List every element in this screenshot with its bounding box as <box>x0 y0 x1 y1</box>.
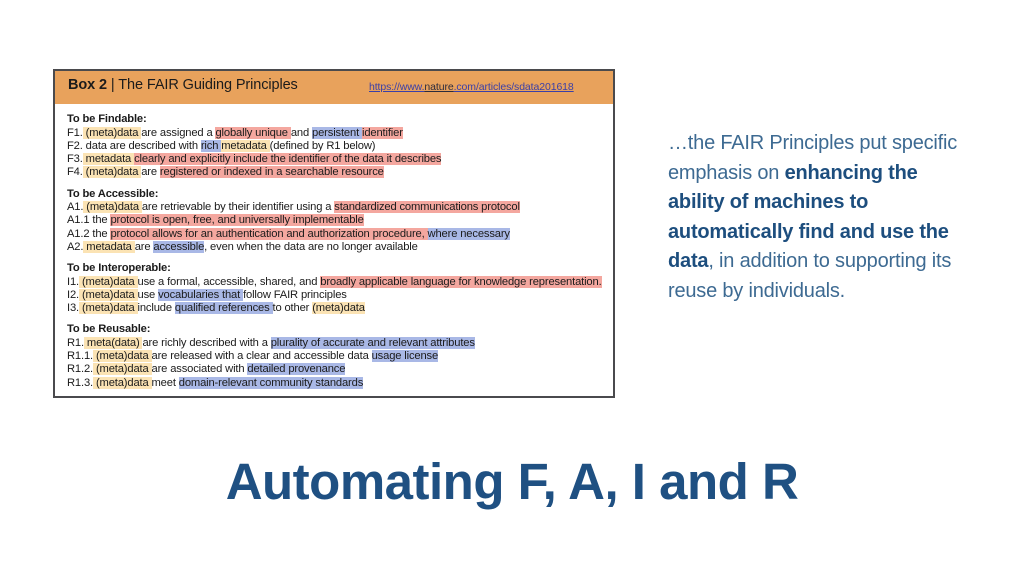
fair-principle: I2. (meta)data use vocabularies that fol… <box>67 289 613 302</box>
fair-text: the <box>89 228 110 240</box>
quote-text: , in addition to supporting its reuse by… <box>668 250 951 302</box>
fair-box-header: Box 2 | The FAIR Guiding Principles http… <box>55 71 613 104</box>
fair-principle-id: F2. <box>67 140 83 152</box>
fair-highlight-b: where necessary <box>428 228 510 240</box>
fair-highlight-b: qualified references <box>175 302 273 314</box>
fair-highlight-y: meta(data) <box>84 337 143 349</box>
fair-principle-id: R1.3. <box>67 377 93 389</box>
url-path: .com/articles/sdata201618 <box>454 81 574 93</box>
fair-principle: F1. (meta)data are assigned a globally u… <box>67 127 613 140</box>
fair-highlight-b: plurality of accurate and relevant attri… <box>271 337 475 349</box>
fair-highlight-y: (meta)data <box>312 302 365 314</box>
fair-principle: A1.1 the protocol is open, free, and uni… <box>67 214 613 227</box>
fair-principles-box: Box 2 | The FAIR Guiding Principles http… <box>53 69 615 398</box>
fair-principle: F4. (meta)data are registered or indexed… <box>67 166 613 179</box>
fair-text: use <box>138 289 159 301</box>
fair-principle: I1. (meta)data use a formal, accessible,… <box>67 276 613 289</box>
fair-highlight-y: (meta)data <box>93 350 152 362</box>
fair-text: include <box>138 302 175 314</box>
fair-principle-id: F3. <box>67 153 83 165</box>
fair-principle: R1.2. (meta)data are associated with det… <box>67 363 613 376</box>
fair-highlight-b: vocabularies that <box>158 289 243 301</box>
fair-principle-id: A1.2 <box>67 228 89 240</box>
fair-highlight-b: usage license <box>372 350 438 362</box>
fair-text: meet <box>152 377 179 389</box>
fair-highlight-y: (meta)data <box>93 363 152 375</box>
fair-text: , even when the data are no longer avail… <box>204 241 418 253</box>
fair-principle-id: A1.1 <box>67 214 89 226</box>
fair-principle: F3. metadata clearly and explicitly incl… <box>67 153 613 166</box>
fair-text: are <box>135 241 154 253</box>
fair-principle-id: I2. <box>67 289 79 301</box>
fair-text: and <box>291 127 312 139</box>
fair-highlight-p: broadly applicable language for knowledg… <box>320 276 601 288</box>
url-prefix: https://www. <box>369 81 424 93</box>
fair-highlight-b: rich <box>201 140 221 152</box>
fair-principle: F2. data are described with rich metadat… <box>67 140 613 153</box>
fair-highlight-y: metadata <box>221 140 269 152</box>
fair-highlight-p: registered or indexed in a searchable re… <box>160 166 384 178</box>
fair-highlight-p: standardized communications protocol <box>334 201 520 213</box>
fair-principle-id: A2. <box>67 241 83 253</box>
fair-section-heading: To be Accessible: <box>67 188 613 201</box>
fair-highlight-y: (meta)data <box>83 166 142 178</box>
fair-principle-id: I1. <box>67 276 79 288</box>
fair-principles-list: To be Findable:F1. (meta)data are assign… <box>55 104 613 390</box>
fair-principle-id: F1. <box>67 127 83 139</box>
fair-section: To be Interoperable:I1. (meta)data use a… <box>67 262 613 315</box>
fair-section: To be Reusable:R1. meta(data) are richly… <box>67 323 613 390</box>
fair-principle: R1. meta(data) are richly described with… <box>67 337 613 350</box>
fair-text: are associated with <box>152 363 248 375</box>
fair-text: use a formal, accessible, shared, and <box>138 276 321 288</box>
fair-highlight-y: (meta)data <box>83 127 142 139</box>
fair-section-heading: To be Interoperable: <box>67 262 613 275</box>
url-domain: nature <box>424 81 453 93</box>
fair-box-title: Box 2 | The FAIR Guiding Principles <box>68 77 298 93</box>
fair-highlight-p: protocol is open, free, and universally … <box>110 214 363 226</box>
fair-principle: A2. metadata are accessible, even when t… <box>67 241 613 254</box>
fair-section: To be Accessible:A1. (meta)data are retr… <box>67 188 613 255</box>
fair-highlight-p: identifier <box>362 127 403 139</box>
fair-principle: I3. (meta)data include qualified referen… <box>67 302 613 315</box>
fair-principle: R1.1. (meta)data are released with a cle… <box>67 350 613 363</box>
fair-highlight-p: globally unique <box>215 127 290 139</box>
fair-text: follow FAIR principles <box>243 289 347 301</box>
fair-highlight-y: metadata <box>83 241 134 253</box>
fair-text: are assigned a <box>141 127 215 139</box>
fair-highlight-b: detailed provenance <box>247 363 345 375</box>
fair-text: are released with a clear and accessible… <box>152 350 372 362</box>
fair-section-heading: To be Findable: <box>67 113 613 126</box>
nature-article-link[interactable]: https://www.nature.com/articles/sdata201… <box>369 81 574 93</box>
fair-highlight-b: persistent <box>312 127 362 139</box>
fair-box-separator: | <box>107 77 118 93</box>
fair-highlight-y: (meta)data <box>83 201 142 213</box>
fair-box-label: Box 2 <box>68 77 107 93</box>
fair-highlight-p: protocol allows for an authentication an… <box>110 228 427 240</box>
fair-principle: A1.2 the protocol allows for an authenti… <box>67 228 613 241</box>
fair-box-heading: The FAIR Guiding Principles <box>118 77 297 93</box>
fair-principle-id: A1. <box>67 201 83 213</box>
fair-highlight-y: (meta)data <box>79 289 138 301</box>
fair-section: To be Findable:F1. (meta)data are assign… <box>67 113 613 180</box>
fair-highlight-y: metadata <box>83 153 134 165</box>
fair-highlight-b: domain-relevant community standards <box>179 377 363 389</box>
fair-principle: A1. (meta)data are retrievable by their … <box>67 201 613 214</box>
fair-text: data are described with <box>83 140 201 152</box>
fair-text: the <box>89 214 110 226</box>
fair-highlight-y: (meta)data <box>79 276 138 288</box>
fair-text: are <box>141 166 160 178</box>
fair-principle-id: F4. <box>67 166 83 178</box>
fair-highlight-b: accessible <box>153 241 204 253</box>
fair-principle-id: R1.2. <box>67 363 93 375</box>
fair-principles-quote: …the FAIR Principles put specific emphas… <box>668 129 958 306</box>
fair-principle-id: R1. <box>67 337 84 349</box>
fair-text: to other <box>273 302 313 314</box>
fair-text: are retrievable by their identifier usin… <box>142 201 334 213</box>
fair-highlight-p: clearly and explicitly include the ident… <box>134 153 441 165</box>
fair-highlight-y: (meta)data <box>79 302 138 314</box>
fair-section-heading: To be Reusable: <box>67 323 613 336</box>
fair-highlight-y: (meta)data <box>93 377 152 389</box>
fair-principle: R1.3. (meta)data meet domain-relevant co… <box>67 377 613 390</box>
fair-principle-id: R1.1. <box>67 350 93 362</box>
fair-text: are richly described with a <box>142 337 270 349</box>
fair-principle-id: I3. <box>67 302 79 314</box>
fair-text: (defined by R1 below) <box>270 140 376 152</box>
slide-headline: Automating F, A, I and R <box>0 452 1024 511</box>
